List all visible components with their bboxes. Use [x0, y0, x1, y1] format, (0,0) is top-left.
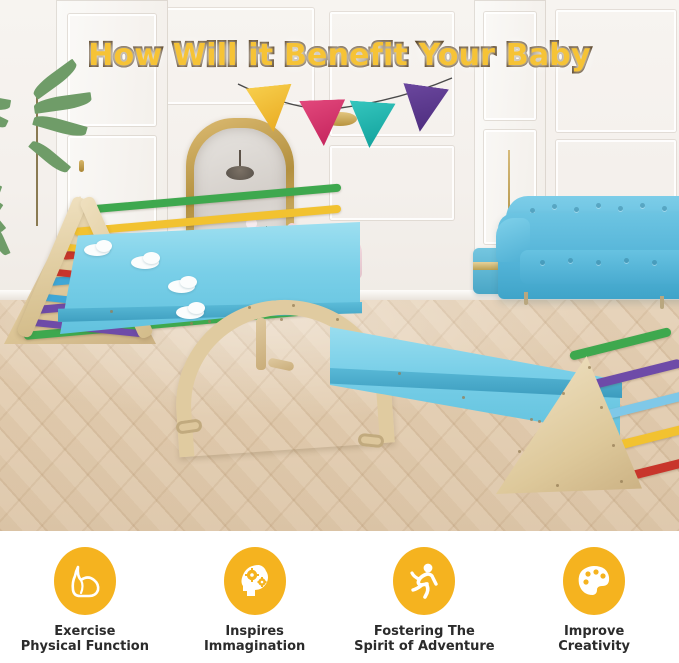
running-person-icon-circle [393, 547, 455, 615]
bicep-flex-icon [68, 562, 102, 600]
arch-support-post [256, 318, 266, 370]
wall-panel [330, 146, 454, 220]
cloud-grip [180, 276, 197, 288]
feature-label: Fostering The Spirit of Adventure [354, 624, 494, 654]
feature-creativity[interactable]: Improve Creativity [510, 547, 678, 654]
feature-adventure[interactable]: Fostering The Spirit of Adventure [340, 547, 508, 654]
feature-label: Improve Creativity [558, 624, 630, 654]
sofa-foot [660, 296, 664, 309]
running-person-icon [407, 562, 441, 600]
benefits-footer: Exercise Physical Function [0, 531, 679, 663]
cloud-grip [143, 252, 160, 264]
sofa-seat-cushion [520, 250, 679, 284]
head-gears-icon [237, 562, 273, 600]
cloud-grip [96, 240, 112, 252]
paint-palette-icon [576, 563, 612, 599]
product-photo-scene: How Will it Benefit Your Baby [0, 0, 679, 531]
arch-foot-right [357, 433, 384, 449]
bicep-flex-icon-circle [54, 547, 116, 615]
feature-exercise[interactable]: Exercise Physical Function [1, 547, 169, 654]
door-knob [79, 160, 84, 172]
feature-label: Exercise Physical Function [21, 624, 149, 654]
party-bunting [0, 72, 679, 138]
page-title: How Will it Benefit Your Baby [0, 38, 679, 73]
cloud-grip [188, 302, 205, 314]
head-gears-icon-circle [224, 547, 286, 615]
feature-imagination[interactable]: Inspires Immagination [171, 547, 339, 654]
product-benefit-infographic: How Will it Benefit Your Baby Exercise P… [0, 0, 679, 663]
wall-panel [556, 140, 676, 202]
chandelier-reflection [224, 150, 256, 190]
feature-label: Inspires Immagination [204, 624, 305, 654]
paint-palette-icon-circle [563, 547, 625, 615]
sofa-foot [524, 292, 528, 305]
